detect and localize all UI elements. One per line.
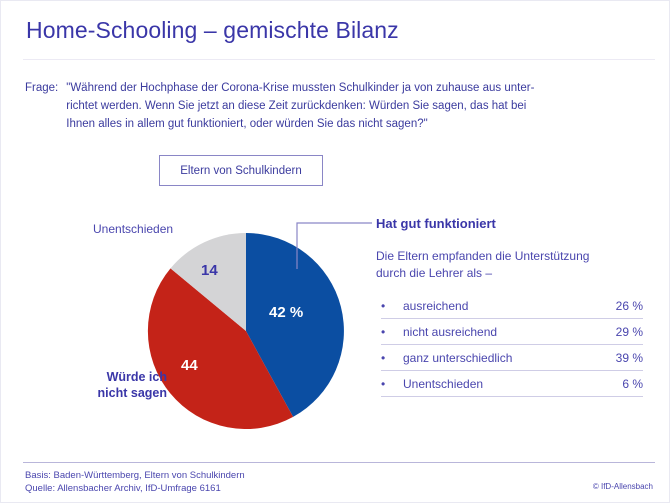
footer-quelle: Quelle: Allensbacher Archiv, IfD-Umfrage… [25,482,245,495]
list-item: • Unentschieden 6 % [381,371,643,397]
list-item-value: 6 % [622,377,643,391]
bullet-icon: • [381,300,403,312]
pie-category-unentschieden: Unentschieden [93,222,173,236]
pie-slice-red [148,268,293,429]
callout-subtext-line-2: durch die Lehrer als – [376,265,646,282]
group-box-eltern-von-schulkindern: Eltern von Schulkindern [159,155,323,186]
list-item-value: 39 % [616,351,643,365]
bullet-icon: • [381,352,403,364]
list-item: • nicht ausreichend 29 % [381,319,643,345]
footer-source: Basis: Baden-Württemberg, Eltern von Sch… [25,469,245,495]
bullet-icon: • [381,378,403,390]
question-block: Frage: "Während der Hochphase der Corona… [25,79,645,133]
list-item-value: 26 % [616,299,643,313]
list-item-label: ganz unterschiedlich [403,351,616,365]
list-item: • ausreichend 26 % [381,293,643,319]
list-item: • ganz unterschiedlich 39 % [381,345,643,371]
callout-connector-line [297,223,372,269]
header-divider [23,59,655,60]
slide-canvas: Home-Schooling – gemischte Bilanz Frage:… [0,0,670,503]
pie-value-grey: 14 [201,262,218,279]
question-text: "Während der Hochphase der Corona-Krise … [66,79,645,133]
pie-slice-blue [246,233,344,417]
callout-subtext: Die Eltern empfanden die Unterstützung d… [376,248,646,282]
footer-copyright: © IfD-Allensbach [593,482,653,491]
pie-category-red-line-1: Würde ich [27,369,167,385]
footer-divider [23,462,655,463]
question-line-2: richtet werden. Wenn Sie jetzt an diese … [66,97,645,115]
list-item-label: Unentschieden [403,377,622,391]
pie-value-red: 44 [181,357,198,374]
pie-category-wuerde-ich-nicht-sagen: Würde ich nicht sagen [27,369,167,401]
question-label: Frage: [25,79,66,97]
page-title: Home-Schooling – gemischte Bilanz [26,17,399,44]
list-item-value: 29 % [616,325,643,339]
pie-value-blue: 42 % [269,304,303,321]
footer-basis: Basis: Baden-Württemberg, Eltern von Sch… [25,469,245,482]
question-line-3: Ihnen alles in allem gut funktioniert, o… [66,115,645,133]
list-item-label: nicht ausreichend [403,325,616,339]
list-item-label: ausreichend [403,299,616,313]
question-line-1: "Während der Hochphase der Corona-Krise … [66,79,645,97]
pie-category-red-line-2: nicht sagen [27,385,167,401]
callout-subtext-line-1: Die Eltern empfanden die Unterstützung [376,248,646,265]
bullet-icon: • [381,326,403,338]
support-rating-list: • ausreichend 26 % • nicht ausreichend 2… [381,293,643,397]
group-box-label: Eltern von Schulkindern [180,165,301,177]
callout-heading-hat-gut-funktioniert: Hat gut funktioniert [376,216,496,231]
pie-slice-grey [171,233,247,331]
